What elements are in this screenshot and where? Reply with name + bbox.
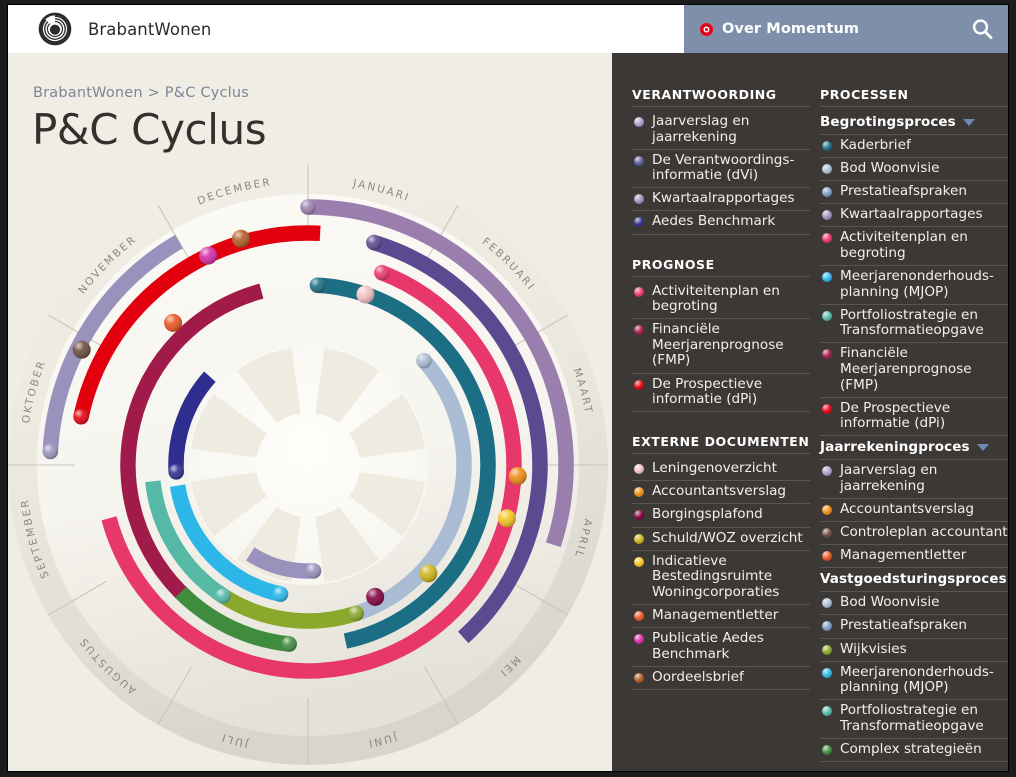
spacer xyxy=(632,235,810,257)
menu-bullet-icon xyxy=(822,668,832,678)
pc-cyclus-wheel-svg[interactable]: JANUARIFEBRUARIMAARTAPRILMEIJUNIJULIAUGU… xyxy=(8,159,610,771)
menu-item-label: Kwartaalrapportages xyxy=(840,207,1008,223)
menu-bullet-icon xyxy=(634,156,644,166)
menu-item[interactable]: Portfoliostrategie en Transformatieopgav… xyxy=(820,305,1008,344)
menu-item[interactable]: De Verantwoordings-informatie (dVi) xyxy=(632,150,810,189)
section-heading: PROGNOSE xyxy=(632,257,810,277)
process-group-label: Vastgoedsturingsproces xyxy=(820,571,1007,587)
menu-item-label: Kwartaalrapportages xyxy=(652,191,810,207)
header-utility-bar: Over Momentum xyxy=(684,5,1008,53)
page-title: P&C Cyclus xyxy=(32,105,266,154)
pc-cyclus-wheel[interactable]: JANUARIFEBRUARIMAARTAPRILMEIJUNIJULIAUGU… xyxy=(8,159,610,771)
menu-bullet-icon xyxy=(822,528,832,538)
document-marker[interactable] xyxy=(73,341,91,359)
menu-item-label: Portfoliostrategie en Transformatieopgav… xyxy=(840,308,1008,339)
menu-bullet-icon xyxy=(822,645,832,655)
menu-item[interactable]: Managementletter xyxy=(632,605,810,628)
menu-item[interactable]: Jaarverslag en jaarrekening xyxy=(820,460,1008,499)
menu-item-label: Activiteitenplan en begroting xyxy=(840,230,1008,261)
menu-item[interactable]: Leningenoverzicht xyxy=(632,458,810,481)
menu-item[interactable]: Managementletter xyxy=(820,545,1008,568)
document-marker[interactable] xyxy=(199,247,217,265)
menu-item-label: Bod Woonvisie xyxy=(840,161,1008,177)
menu-item[interactable]: Meerjarenonderhouds-planning (MJOP) xyxy=(820,662,1008,701)
menu-item[interactable]: Activiteitenplan en begroting xyxy=(820,227,1008,266)
menu-item[interactable]: Publicatie Aedes Benchmark xyxy=(632,628,810,667)
menu-item[interactable]: Controleplan accountant xyxy=(820,522,1008,545)
process-group-toggle[interactable]: Jaarrekeningproces xyxy=(820,436,1008,460)
process-group-label: Begrotingsproces xyxy=(820,114,956,130)
menu-item[interactable]: Meerjarenonderhouds-planning (MJOP) xyxy=(820,266,1008,305)
section-heading: VERANTWOORDING xyxy=(632,87,810,107)
menu-bullet-icon xyxy=(634,634,644,644)
main-content: BrabantWonen > P&C Cyclus P&C Cyclus xyxy=(8,53,612,771)
menu-item[interactable]: Oordeelsbrief xyxy=(632,667,810,690)
menu-item-label: Kaderbrief xyxy=(840,138,1008,154)
chevron-down-icon[interactable] xyxy=(977,444,989,451)
menu-bullet-icon xyxy=(822,404,832,414)
menu-bullet-icon xyxy=(634,380,644,390)
menu-bullet-icon xyxy=(822,466,832,476)
brand-name: BrabantWonen xyxy=(88,20,211,39)
menu-item-label: Indicatieve Bestedingsruimte Woningcorpo… xyxy=(652,554,810,601)
application-window: BrabantWonen Over Momentum BrabantWonen … xyxy=(8,5,1008,771)
process-group-toggle[interactable]: Vastgoedsturingsproces xyxy=(820,568,1008,592)
menu-item-label: Prestatieafspraken xyxy=(840,618,1008,634)
menu-item[interactable]: Financiële Meerjarenprognose (FMP) xyxy=(632,319,810,373)
menu-bullet-icon xyxy=(634,117,644,127)
menu-item-label: Leningenoverzicht xyxy=(652,461,810,477)
menu-item[interactable]: Kwartaalrapportages xyxy=(632,188,810,211)
menu-item[interactable]: Accountantsverslag xyxy=(632,481,810,504)
menu-item[interactable]: Portfoliostrategie en Transformatieopgav… xyxy=(820,700,1008,739)
document-marker[interactable] xyxy=(164,314,182,332)
menu-item[interactable]: Financiële Meerjarenprognose (FMP) xyxy=(820,343,1008,397)
menu-item-label: De Verantwoordings-informatie (dVi) xyxy=(652,153,810,184)
menu-item-label: Prestatieafspraken xyxy=(840,184,1008,200)
menu-bullet-icon xyxy=(634,611,644,621)
menu-bullet-icon xyxy=(822,311,832,321)
brabantwonen-swirl-logo-icon[interactable] xyxy=(38,12,72,46)
menu-item-label: Wijkvisies xyxy=(840,642,1008,658)
documents-column: VERANTWOORDINGJaarverslag en jaarrekenin… xyxy=(632,87,810,690)
menu-item[interactable]: Activiteitenplan en begroting xyxy=(632,281,810,320)
menu-bullet-icon xyxy=(634,534,644,544)
menu-item-label: Jaarverslag en jaarrekening xyxy=(840,463,1008,494)
menu-item-label: Schuld/WOZ overzicht xyxy=(652,531,810,547)
menu-item-label: Controleplan accountant xyxy=(840,525,1008,541)
menu-item[interactable]: Borgingsplafond xyxy=(632,504,810,527)
menu-item[interactable]: De Prospectieve informatie (dPi) xyxy=(632,374,810,413)
menu-bullet-icon xyxy=(822,272,832,282)
menu-item[interactable]: Indicatieve Bestedingsruimte Woningcorpo… xyxy=(632,551,810,605)
menu-item[interactable]: Schuld/WOZ overzicht xyxy=(632,528,810,551)
site-header: BrabantWonen Over Momentum xyxy=(8,5,1008,53)
menu-bullet-icon xyxy=(634,194,644,204)
document-marker[interactable] xyxy=(366,588,384,606)
menu-item-label: Borgingsplafond xyxy=(652,507,810,523)
over-momentum-link[interactable]: Over Momentum xyxy=(722,21,859,37)
menu-bullet-icon xyxy=(634,287,644,297)
menu-bullet-icon xyxy=(634,673,644,683)
menu-item-label: Activiteitenplan en begroting xyxy=(652,284,810,315)
menu-item-label: De Prospectieve informatie (dPi) xyxy=(652,377,810,408)
menu-bullet-icon xyxy=(822,505,832,515)
side-panel: VERANTWOORDINGJaarverslag en jaarrekenin… xyxy=(612,53,1008,771)
menu-item-label: Accountantsverslag xyxy=(652,484,810,500)
menu-bullet-icon xyxy=(634,464,644,474)
menu-bullet-icon xyxy=(822,706,832,716)
menu-item[interactable]: Accountantsverslag xyxy=(820,499,1008,522)
menu-item-label: De Prospectieve informatie (dPi) xyxy=(840,401,1008,432)
menu-item-label: Managementletter xyxy=(652,608,810,624)
menu-item-label: Portfoliostrategie en Transformatieopgav… xyxy=(840,703,1008,734)
menu-bullet-icon xyxy=(822,164,832,174)
document-marker[interactable] xyxy=(509,467,527,485)
breadcrumb[interactable]: BrabantWonen > P&C Cyclus xyxy=(33,85,249,101)
processes-column: PROCESSENBegrotingsprocesKaderbriefBod W… xyxy=(820,87,1008,762)
menu-item[interactable]: Bod Woonvisie xyxy=(820,592,1008,615)
menu-bullet-icon xyxy=(634,487,644,497)
menu-item[interactable]: Prestatieafspraken xyxy=(820,615,1008,638)
menu-item-label: Financiële Meerjarenprognose (FMP) xyxy=(652,322,810,369)
section-heading: PROCESSEN xyxy=(820,87,1008,107)
process-group-label: Jaarrekeningproces xyxy=(820,439,970,455)
menu-bullet-icon xyxy=(634,510,644,520)
document-marker[interactable] xyxy=(356,285,374,303)
menu-bullet-icon xyxy=(822,233,832,243)
menu-item-label: Complex strategieën xyxy=(840,742,1008,758)
menu-bullet-icon xyxy=(822,210,832,220)
header-brand-area: BrabantWonen xyxy=(8,5,684,53)
spacer xyxy=(632,412,810,434)
menu-bullet-icon xyxy=(822,141,832,151)
chevron-down-icon[interactable] xyxy=(963,119,975,126)
menu-bullet-icon xyxy=(822,551,832,561)
menu-item[interactable]: Kaderbrief xyxy=(820,135,1008,158)
menu-bullet-icon xyxy=(822,187,832,197)
document-marker[interactable] xyxy=(498,509,516,527)
menu-item-label: Aedes Benchmark xyxy=(652,214,810,230)
menu-item-label: Managementletter xyxy=(840,548,1008,564)
menu-item[interactable]: Complex strategieën xyxy=(820,739,1008,762)
menu-item-label: Jaarverslag en jaarrekening xyxy=(652,114,810,145)
menu-item-label: Meerjarenonderhouds-planning (MJOP) xyxy=(840,665,1008,696)
menu-item[interactable]: Prestatieafspraken xyxy=(820,181,1008,204)
menu-item-label: Accountantsverslag xyxy=(840,502,1008,518)
document-marker[interactable] xyxy=(232,230,250,248)
process-group-toggle[interactable]: Begrotingsproces xyxy=(820,111,1008,135)
menu-item-label: Bod Woonvisie xyxy=(840,595,1008,611)
search-icon[interactable] xyxy=(970,17,994,41)
menu-item[interactable]: Aedes Benchmark xyxy=(632,211,810,234)
menu-item[interactable]: Wijkvisies xyxy=(820,639,1008,662)
menu-bullet-icon xyxy=(822,598,832,608)
menu-bullet-icon xyxy=(822,349,832,359)
menu-item[interactable]: Kwartaalrapportages xyxy=(820,204,1008,227)
menu-item-label: Financiële Meerjarenprognose (FMP) xyxy=(840,346,1008,393)
menu-item[interactable]: Bod Woonvisie xyxy=(820,158,1008,181)
menu-bullet-icon xyxy=(634,325,644,335)
section-heading: EXTERNE DOCUMENTEN xyxy=(632,434,810,454)
menu-item-label: Meerjarenonderhouds-planning (MJOP) xyxy=(840,269,1008,300)
document-marker[interactable] xyxy=(419,564,437,582)
red-ring-dot-icon xyxy=(700,23,713,36)
menu-bullet-icon xyxy=(822,621,832,631)
menu-item-label: Oordeelsbrief xyxy=(652,670,810,686)
menu-item[interactable]: Jaarverslag en jaarrekening xyxy=(632,111,810,150)
menu-item-label: Publicatie Aedes Benchmark xyxy=(652,631,810,662)
menu-bullet-icon xyxy=(822,745,832,755)
menu-bullet-icon xyxy=(634,217,644,227)
menu-bullet-icon xyxy=(634,557,644,567)
menu-item[interactable]: De Prospectieve informatie (dPi) xyxy=(820,398,1008,437)
